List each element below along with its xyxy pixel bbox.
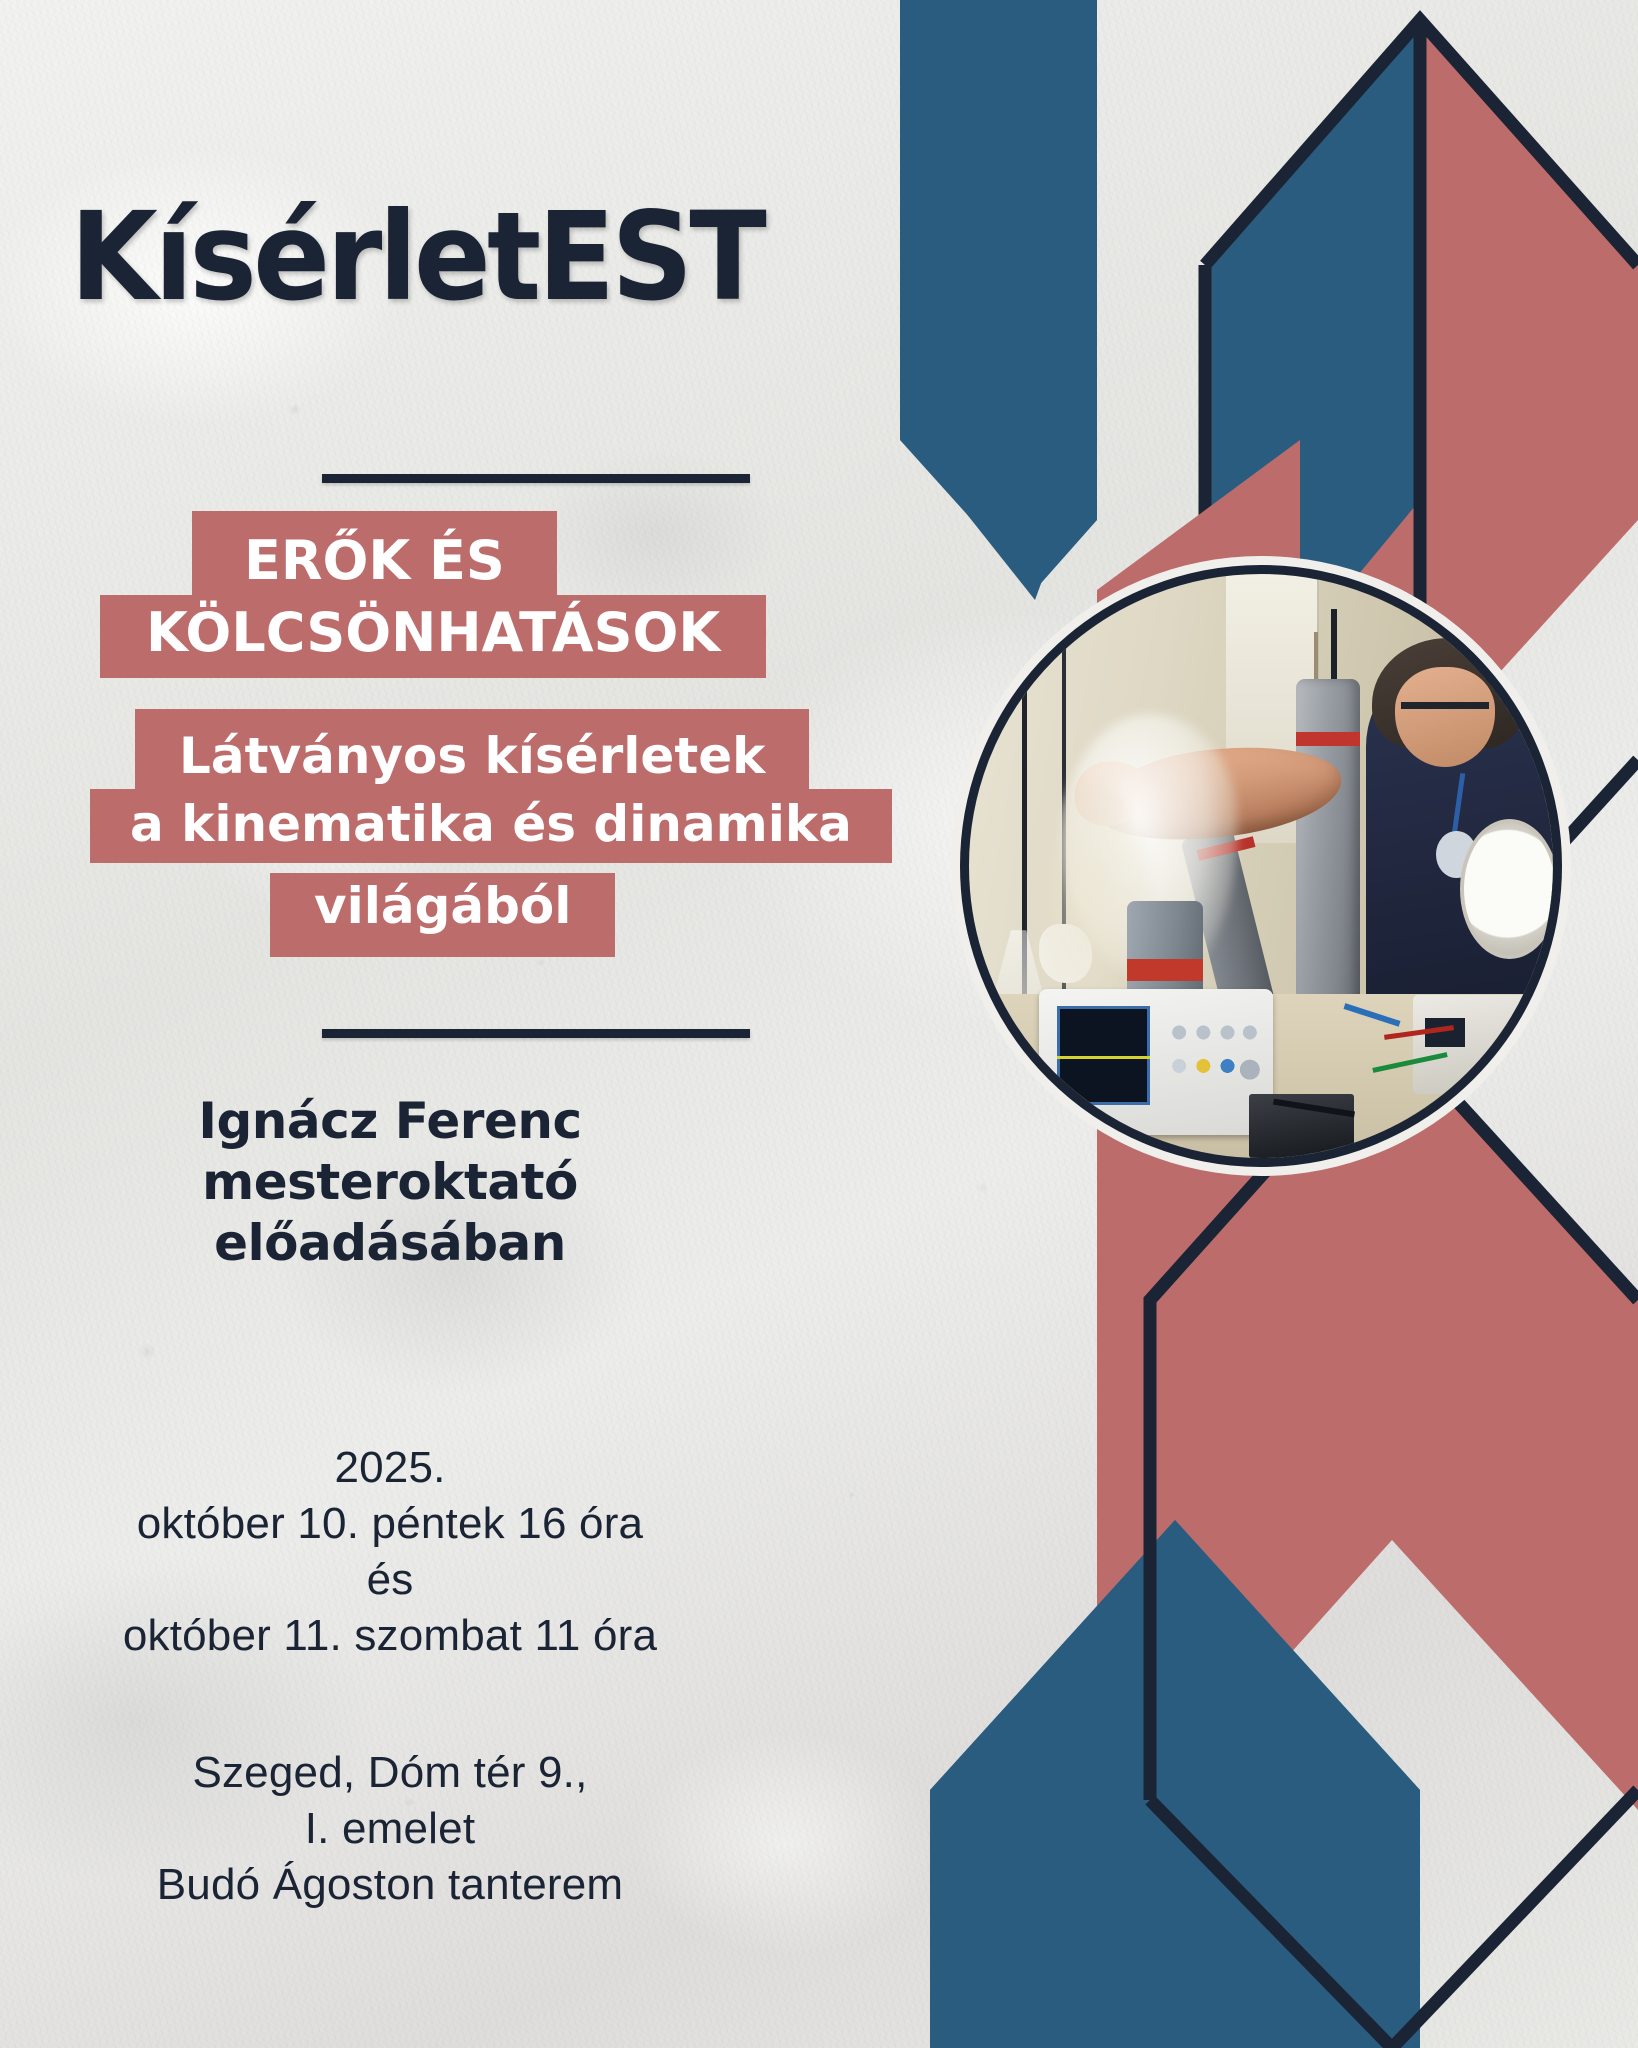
lab-rod-b <box>1062 574 1066 1053</box>
lab-presenter-lanyard <box>1449 773 1465 849</box>
page-title: KísérletEST <box>70 196 740 318</box>
banner-line-3: Látványos kísérletek <box>135 709 809 793</box>
banner-line-2: KÖLCSÖNHATÁSOK <box>100 595 766 678</box>
lab-gas-cylinder <box>1127 901 1203 1076</box>
date-day-1: október 10. péntek 16 óra <box>0 1496 780 1552</box>
lab-black-module <box>1249 1094 1354 1158</box>
lab-presenter-badge <box>1436 831 1477 878</box>
lab-grey-tube <box>1296 679 1360 1053</box>
text-column: KísérletEST ERŐK ÉS KÖLCSÖNHATÁSOK Látvá… <box>0 0 780 2048</box>
lab-oscilloscope <box>1039 989 1273 1135</box>
poster-canvas: KísérletEST ERŐK ÉS KÖLCSÖNHATÁSOK Látvá… <box>0 0 1638 2048</box>
lab-vapour-cloud-secondary <box>1033 784 1150 1029</box>
speaker-block: Ignácz Ferenc mesteroktató előadásában <box>0 1091 780 1274</box>
lab-oscilloscope-trace <box>1057 1056 1150 1059</box>
lab-black-cable <box>1273 1099 1355 1118</box>
lab-presenter-face <box>1395 667 1494 766</box>
venue-floor: I. emelet <box>0 1801 780 1857</box>
date-day-2: október 11. szombat 11 óra <box>0 1608 780 1664</box>
lab-presenter-hand <box>1069 755 1155 831</box>
divider-bottom <box>322 1029 750 1038</box>
speaker-photo <box>969 574 1553 1158</box>
lab-angled-tube <box>1181 828 1288 1067</box>
lab-power-supply-display <box>1425 1018 1466 1047</box>
lab-flask <box>987 930 1051 1023</box>
blue-column-top-block <box>900 0 1097 430</box>
lab-angled-tube-band <box>1196 836 1255 861</box>
lab-rod-a <box>1022 586 1027 1018</box>
lab-oscilloscope-knobs <box>1168 1012 1261 1105</box>
lab-analog-gauge <box>1460 819 1553 959</box>
speaker-name: Ignácz Ferenc <box>0 1091 780 1152</box>
divider-top <box>322 474 750 483</box>
speaker-presented-by: előadásában <box>0 1213 780 1274</box>
lab-tube-red-band <box>1296 732 1360 746</box>
date-conjunction: és <box>0 1552 780 1608</box>
banner-line-1: ERŐK ÉS <box>192 511 557 602</box>
lab-wall <box>969 574 1553 1158</box>
lab-blue-cable <box>1343 1003 1400 1027</box>
banner-line-4: a kinematika és dinamika <box>90 789 892 863</box>
date-year: 2025. <box>0 1440 780 1496</box>
lab-experiment-image <box>969 574 1553 1158</box>
venue-address: Szeged, Dóm tér 9., <box>0 1745 780 1801</box>
date-block: 2025. október 10. péntek 16 óra és októb… <box>0 1440 780 1664</box>
lab-green-cable <box>1372 1052 1447 1073</box>
speaker-photo-frame <box>951 556 1571 1176</box>
venue-room: Budó Ágoston tanterem <box>0 1857 780 1913</box>
lab-red-cable <box>1384 1026 1454 1041</box>
lab-vapour-cloud <box>1062 714 1237 983</box>
venue-block: Szeged, Dóm tér 9., I. emelet Budó Ágost… <box>0 1745 780 1913</box>
lab-rod-d <box>1314 632 1318 842</box>
lab-paper <box>1039 924 1092 982</box>
speaker-role: mesteroktató <box>0 1152 780 1213</box>
lab-power-supply <box>1413 995 1530 1094</box>
lab-cylinder-label <box>1127 959 1203 981</box>
lab-door <box>1226 574 1319 843</box>
lab-presenter-arm <box>1094 737 1347 850</box>
banner-line-5: világából <box>270 873 615 957</box>
lab-rod-c <box>1331 609 1337 854</box>
lab-presenter-glasses <box>1401 702 1489 709</box>
lab-oscilloscope-screen <box>1057 1006 1150 1105</box>
